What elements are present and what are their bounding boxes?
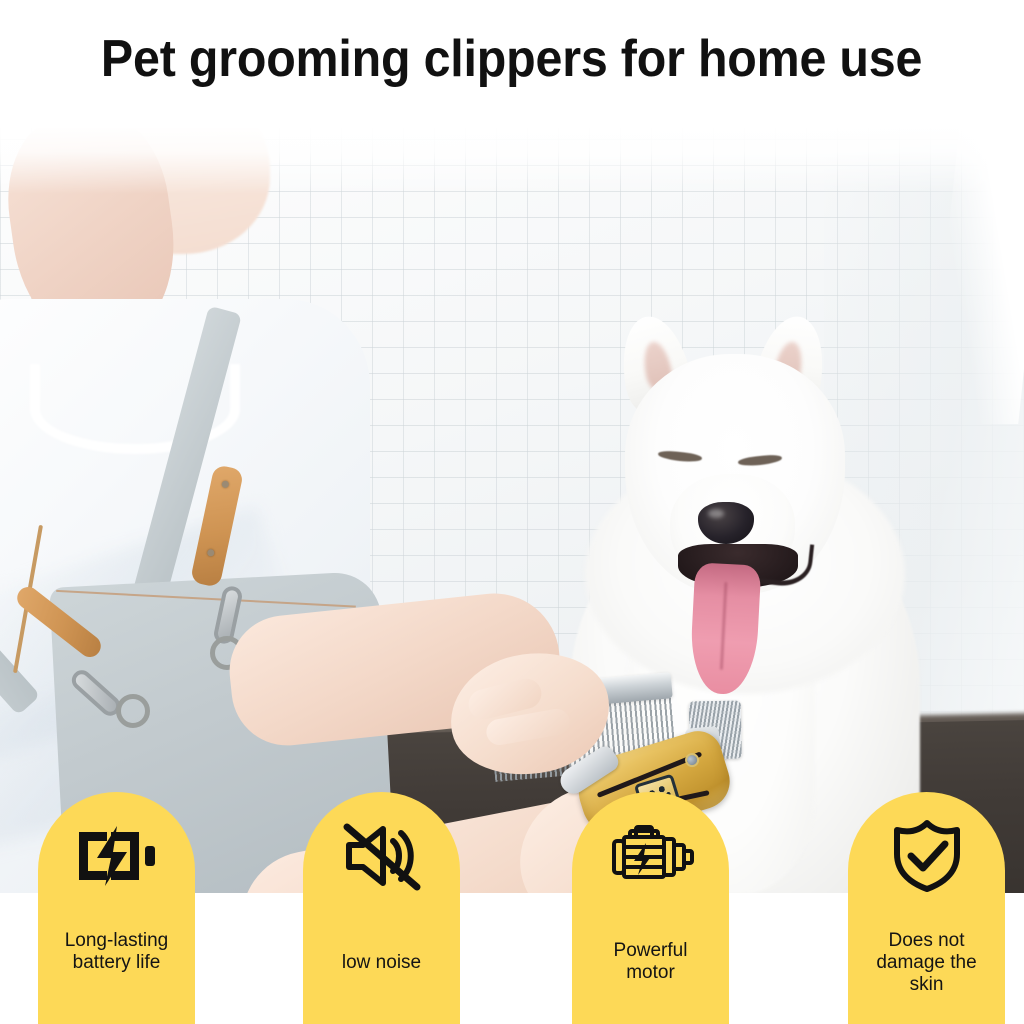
feature-label: Long-lasting battery life <box>42 930 192 974</box>
apron-stitching <box>56 590 356 608</box>
feature-label: Does not damage the skin <box>852 930 1002 996</box>
apron-rivet <box>221 480 229 488</box>
feature-label: low noise <box>307 952 457 974</box>
apron-clip-ring-left <box>116 694 150 728</box>
feature-badge-battery[interactable]: Long-lasting battery life <box>38 792 195 1024</box>
mute-speaker-icon <box>336 818 428 894</box>
electric-motor-icon <box>605 818 697 894</box>
feature-badge-low-noise[interactable]: low noise <box>303 792 460 1024</box>
title-bar: Pet grooming clippers for home use <box>0 0 1024 128</box>
feature-badge-motor[interactable]: Powerful motor <box>572 792 729 1024</box>
shield-check-icon <box>881 818 973 894</box>
page-title: Pet grooming clippers for home use <box>101 29 922 99</box>
product-marketing-image: Pet grooming clippers for home use <box>0 0 1024 1024</box>
apron-rivet <box>207 549 215 557</box>
feature-badge-skin-safe[interactable]: Does not damage the skin <box>848 792 1005 1024</box>
feature-label: Powerful motor <box>576 940 726 984</box>
dog-tongue-center-line <box>720 582 728 670</box>
product-photo <box>0 124 1024 894</box>
battery-charging-icon <box>71 818 163 894</box>
photo-top-fade <box>0 124 1024 194</box>
dog-nose-highlight <box>708 509 724 518</box>
groomer <box>0 124 500 894</box>
